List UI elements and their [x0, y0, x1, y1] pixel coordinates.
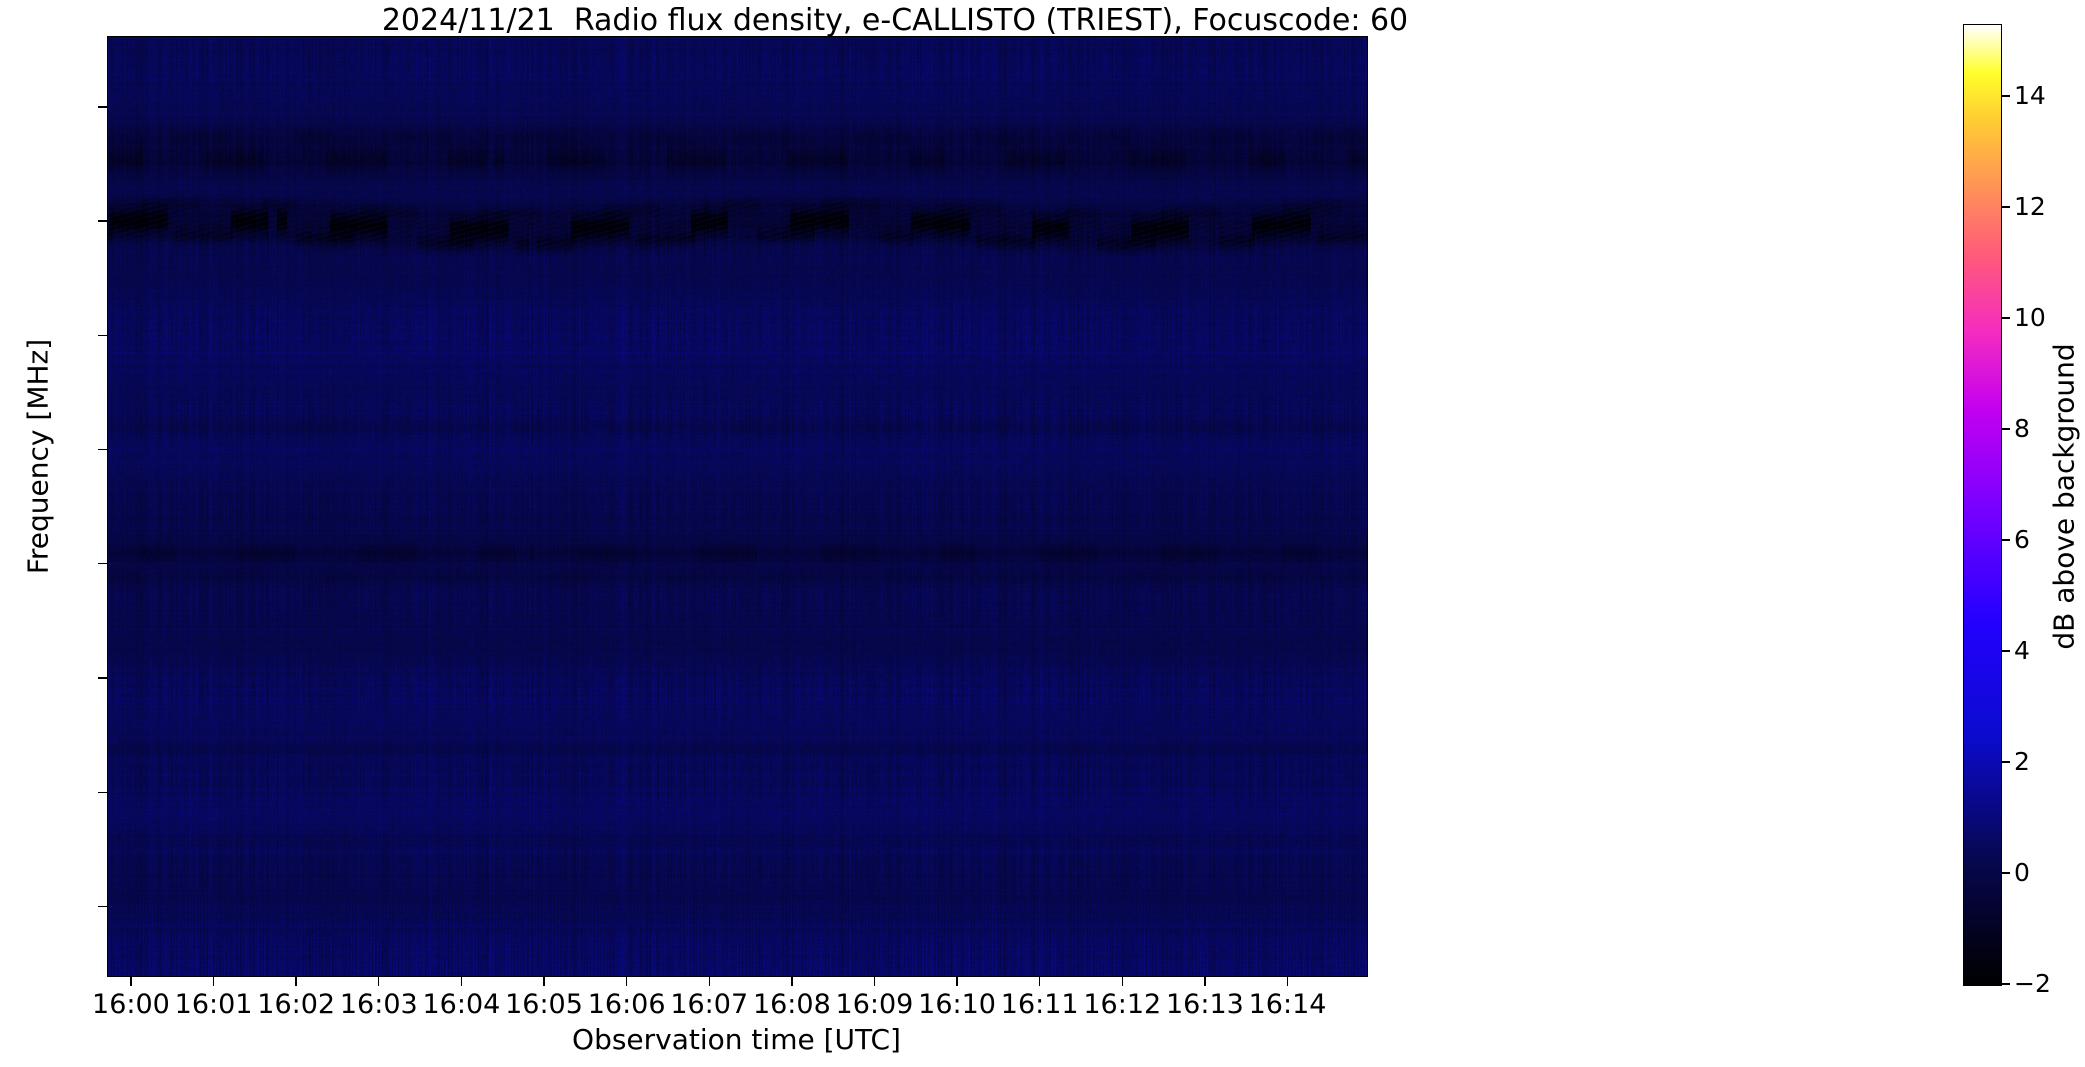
page-title: 2024/11/21 Radio flux density, e-CALLIST… [0, 4, 1790, 38]
x-tick-label: 16:00 [92, 990, 170, 1020]
x-tick-mark [956, 977, 957, 986]
x-tick-mark [1287, 977, 1288, 986]
spectrogram-image [108, 37, 1367, 976]
colorbar-tick-mark [2002, 650, 2010, 651]
x-tick-label: 16:09 [836, 990, 914, 1020]
x-tick-mark [1122, 977, 1123, 986]
x-tick-mark [213, 977, 214, 986]
x-tick-label: 16:13 [1166, 990, 1244, 1020]
y-tick-mark [98, 449, 107, 450]
x-tick-label: 16:12 [1083, 990, 1161, 1020]
x-tick-mark [378, 977, 379, 986]
x-tick-label: 16:10 [918, 990, 996, 1020]
x-tick-mark [130, 977, 131, 986]
x-tick-label: 16:11 [1001, 990, 1079, 1020]
colorbar-tick-label: 0 [2014, 860, 2030, 885]
colorbar-tick-mark [2002, 206, 2010, 207]
colorbar-tick-label: 6 [2014, 527, 2030, 552]
colorbar-tick-mark [2002, 872, 2010, 873]
x-tick-mark [1204, 977, 1205, 986]
x-tick-label: 16:04 [422, 990, 500, 1020]
x-tick-mark [1039, 977, 1040, 986]
x-tick-label: 16:01 [175, 990, 253, 1020]
x-tick-label: 16:02 [257, 990, 335, 1020]
colorbar-tick-mark [2002, 761, 2010, 762]
colorbar-tick-label: 10 [2014, 305, 2046, 330]
x-tick-mark [626, 977, 627, 986]
spectrogram-axes [107, 36, 1368, 977]
y-tick-mark [98, 563, 107, 564]
x-tick-mark [791, 977, 792, 986]
colorbar-tick-label: 4 [2014, 638, 2030, 663]
y-tick-mark [98, 106, 107, 107]
y-tick-mark [98, 792, 107, 793]
y-tick-mark [98, 335, 107, 336]
x-tick-mark [461, 977, 462, 986]
x-tick-label: 16:08 [753, 990, 831, 1020]
y-tick-mark [98, 906, 107, 907]
colorbar-tick-label: 2 [2014, 749, 2030, 774]
x-tick-mark [295, 977, 296, 986]
x-tick-label: 16:06 [588, 990, 666, 1020]
x-axis-label: Observation time [UTC] [107, 1023, 1366, 1056]
y-tick-mark [98, 677, 107, 678]
colorbar-tick-label: 8 [2014, 416, 2030, 441]
colorbar-tick-mark [2002, 539, 2010, 540]
colorbar-tick-label: 14 [2014, 83, 2046, 108]
x-tick-label: 16:05 [505, 990, 583, 1020]
x-tick-mark [874, 977, 875, 986]
colorbar-tick-mark [2002, 428, 2010, 429]
x-tick-mark [543, 977, 544, 986]
x-tick-label: 16:03 [340, 990, 418, 1020]
colorbar [1963, 24, 2002, 986]
y-axis-label: Frequency [MHz] [22, 207, 55, 707]
colorbar-tick-label: −2 [2014, 971, 2051, 996]
colorbar-tick-mark [2002, 317, 2010, 318]
x-tick-label: 16:07 [670, 990, 748, 1020]
colorbar-tick-mark [2002, 983, 2010, 984]
spectrogram-figure: 2024/11/21 Radio flux density, e-CALLIST… [0, 0, 2085, 1067]
x-tick-label: 16:14 [1249, 990, 1327, 1020]
colorbar-gradient [1964, 25, 2001, 985]
x-tick-mark [709, 977, 710, 986]
colorbar-tick-label: 12 [2014, 194, 2046, 219]
colorbar-tick-mark [2002, 95, 2010, 96]
y-tick-mark [98, 220, 107, 221]
colorbar-label: dB above background [2048, 247, 2081, 747]
